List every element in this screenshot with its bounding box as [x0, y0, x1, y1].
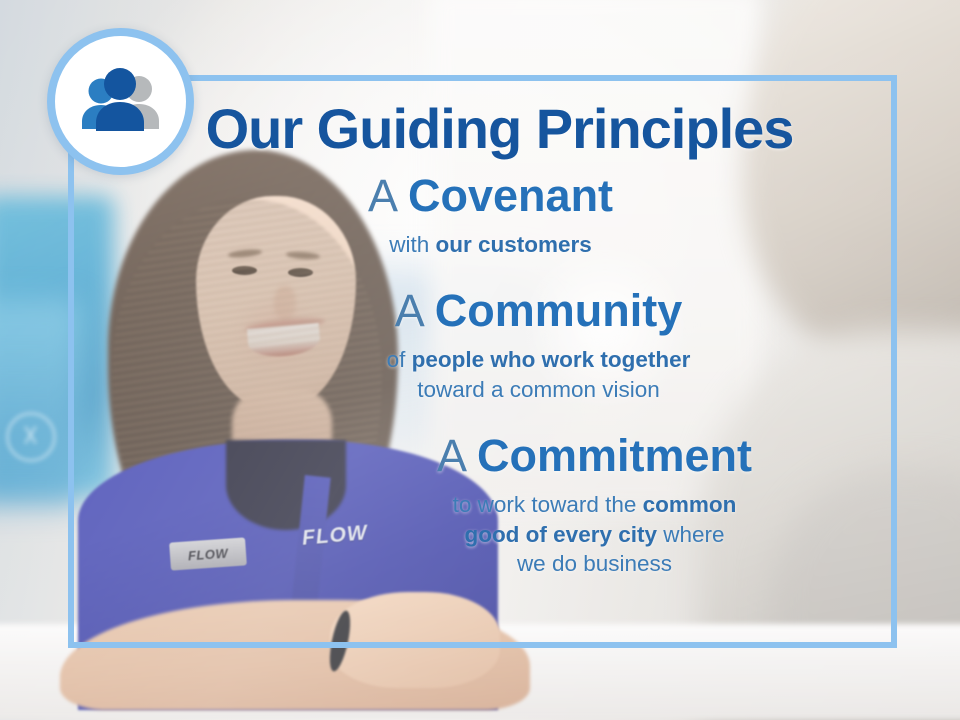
- subline-segment: we do business: [517, 551, 672, 576]
- principle-heading: A Community: [214, 286, 863, 336]
- principle-subline: of people who work together: [214, 345, 863, 375]
- principle-subtext: to work toward the common good of every …: [326, 490, 863, 579]
- subline-segment-bold: common: [643, 492, 737, 517]
- page-title: Our Guiding Principles: [136, 100, 863, 159]
- principle-subline: with our customers: [118, 230, 863, 260]
- principle-article: A: [368, 170, 396, 221]
- principle-covenant: A Covenant with our customers: [118, 171, 863, 260]
- principle-keyword: Covenant: [408, 170, 613, 221]
- principle-subline: toward a common vision: [214, 375, 863, 405]
- subline-segment: of: [387, 347, 412, 372]
- principle-subtext: with our customers: [118, 230, 863, 260]
- principle-article: A: [395, 285, 423, 336]
- subline-segment: toward a common vision: [417, 377, 660, 402]
- principle-article: A: [437, 430, 465, 481]
- principle-subline: good of every city where: [326, 520, 863, 550]
- principle-commitment: A Commitment to work toward the common g…: [326, 431, 863, 579]
- principle-subline: we do business: [326, 549, 863, 579]
- subline-segment-bold: good of every city: [464, 522, 657, 547]
- principle-subline: to work toward the common: [326, 490, 863, 520]
- subline-segment: to work toward the: [453, 492, 643, 517]
- principle-keyword: Community: [435, 285, 683, 336]
- subline-segment-bold: our customers: [435, 232, 591, 257]
- blurred-car-brand-logo: [6, 412, 56, 462]
- content-area: Our Guiding Principles A Covenant with o…: [68, 75, 897, 648]
- subline-segment: where: [657, 522, 725, 547]
- principle-community: A Community of people who work together …: [214, 286, 863, 405]
- people-group-icon: [73, 67, 169, 137]
- subline-segment-bold: people who work together: [412, 347, 691, 372]
- principle-keyword: Commitment: [477, 430, 752, 481]
- principle-heading: A Commitment: [326, 431, 863, 481]
- principle-subtext: of people who work together toward a com…: [214, 345, 863, 404]
- subline-segment: with: [389, 232, 435, 257]
- people-badge: [47, 28, 194, 175]
- guiding-principles-graphic: FLOW FLOW Our Guiding Principles A Coven…: [0, 0, 960, 720]
- principle-heading: A Covenant: [118, 171, 863, 221]
